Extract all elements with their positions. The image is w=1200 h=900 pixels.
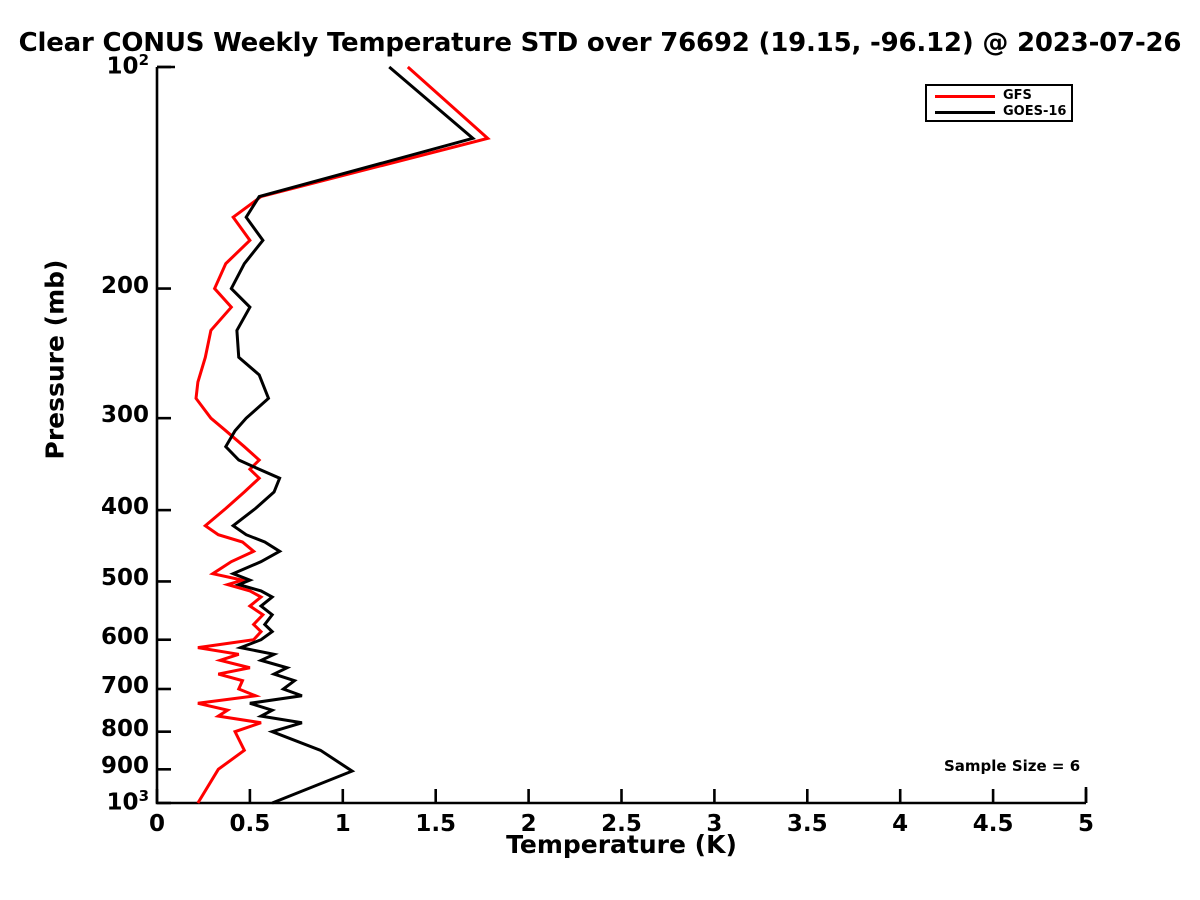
x-tick-label: 0.5 — [210, 811, 290, 837]
x-tick-label: 4.5 — [953, 811, 1033, 837]
legend-label-gfs: GFS — [1003, 88, 1032, 103]
y-tick-label: 200 — [59, 273, 149, 299]
legend-entry: GOES-16 — [927, 104, 1075, 121]
legend-entry: GFS — [927, 88, 1075, 105]
x-tick-label: 5 — [1046, 811, 1126, 837]
x-tick-label: 4 — [860, 811, 940, 837]
x-tick-label: 3.5 — [767, 811, 847, 837]
series-lines — [196, 67, 488, 803]
x-tick-label: 0 — [117, 811, 197, 837]
legend-label-goes16: GOES-16 — [1003, 104, 1066, 119]
y-tick-label: 500 — [59, 565, 149, 591]
legend: GFS GOES-16 — [925, 84, 1073, 122]
x-tick-label: 1 — [303, 811, 383, 837]
sample-size-annotation: Sample Size = 6 — [944, 757, 1080, 775]
x-tick-label: 2.5 — [582, 811, 662, 837]
legend-swatch-goes16 — [935, 111, 995, 114]
x-tick-label: 1.5 — [396, 811, 476, 837]
x-tick-label: 2 — [489, 811, 569, 837]
y-tick-label: 600 — [59, 624, 149, 650]
y-tick-label: 900 — [59, 753, 149, 779]
x-tick-label: 3 — [674, 811, 754, 837]
y-tick-label: 800 — [59, 716, 149, 742]
y-tick-label: 400 — [59, 494, 149, 520]
legend-swatch-gfs — [935, 95, 995, 98]
y-tick-label: 300 — [59, 402, 149, 428]
chart-page: Clear CONUS Weekly Temperature STD over … — [0, 0, 1200, 900]
y-tick-label: 102 — [59, 51, 149, 80]
y-tick-label: 700 — [59, 673, 149, 699]
